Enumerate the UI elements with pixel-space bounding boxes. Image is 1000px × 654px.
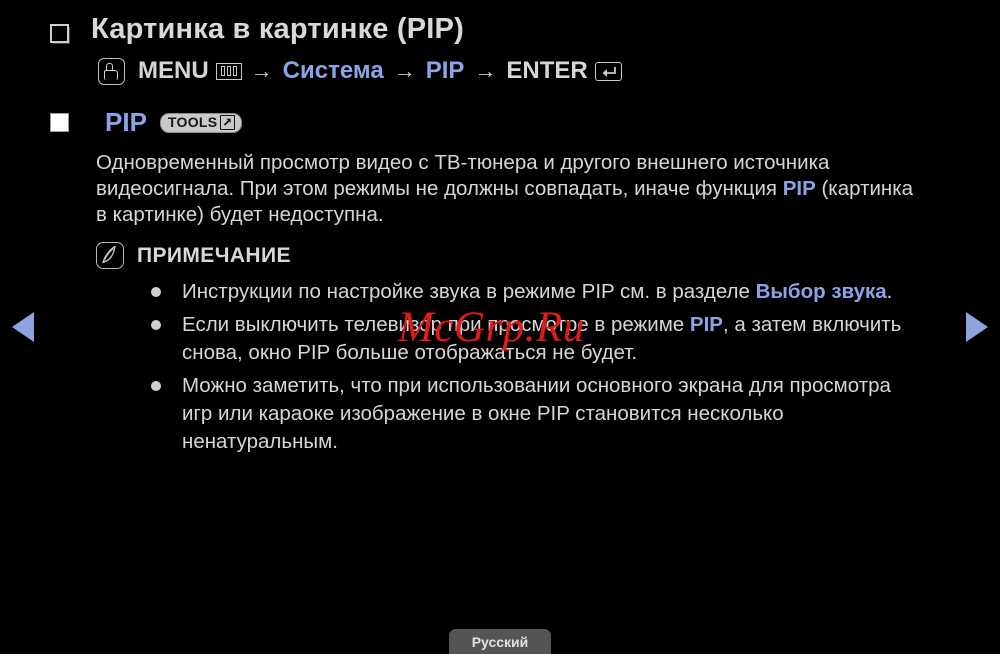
language-tab[interactable]: Русский — [449, 629, 551, 654]
menu-path: MENU → Система → PIP → ENTER — [0, 57, 1000, 85]
pip-heading-label: PIP — [105, 107, 147, 138]
content-column: Картинка в картинке (PIP) MENU → Система… — [0, 0, 1000, 472]
pip-heading-row: PIP TOOLS — [0, 107, 1000, 138]
pip-description-highlight: PIP — [783, 177, 816, 200]
list-item: Инструкции по настройке звука в режиме P… — [0, 278, 1000, 306]
note-bullet-list: Инструкции по настройке звука в режиме P… — [0, 278, 1000, 456]
hollow-square-bullet-icon — [50, 24, 69, 43]
bullet-1-link[interactable]: Выбор звука — [756, 280, 887, 303]
bullet-2-part1: Если выключить телевизор при просмотре в… — [182, 313, 690, 336]
note-quill-icon — [96, 242, 124, 269]
manual-page: Картинка в картинке (PIP) MENU → Система… — [0, 0, 1000, 654]
section-title-row: Картинка в картинке (PIP) — [0, 11, 1000, 47]
tools-arrow-icon — [220, 115, 235, 130]
menu-path-pip-label: PIP — [426, 57, 465, 85]
bullet-1-part2: . — [887, 280, 893, 303]
bullet-2-highlight: PIP — [690, 313, 723, 336]
menu-grid-icon — [216, 63, 242, 80]
round-bullet-icon — [151, 320, 161, 330]
menu-path-arrow-3: → — [474, 58, 496, 84]
round-bullet-icon — [151, 287, 161, 297]
page-title: Картинка в картинке (PIP) — [91, 11, 464, 47]
list-item: Если выключить телевизор при просмотре в… — [0, 311, 1000, 367]
bullet-1-part1: Инструкции по настройке звука в режиме P… — [182, 280, 756, 303]
menu-path-arrow-2: → — [394, 58, 416, 84]
round-bullet-icon — [151, 381, 161, 391]
note-title: ПРИМЕЧАНИЕ — [137, 244, 291, 268]
bullet-3-part1: Можно заметить, что при использовании ос… — [182, 374, 891, 453]
remote-hand-press-icon — [98, 58, 125, 85]
tools-badge-label: TOOLS — [168, 115, 217, 130]
menu-path-enter-label: ENTER — [506, 57, 587, 85]
pip-description: Одновременный просмотр видео с ТВ-тюнера… — [0, 150, 1000, 228]
tools-badge[interactable]: TOOLS — [160, 113, 242, 133]
menu-path-menu-label: MENU — [138, 57, 209, 85]
menu-path-system-label: Система — [283, 57, 384, 85]
menu-path-arrow-1: → — [251, 58, 273, 84]
enter-return-key-icon — [595, 62, 622, 81]
note-header-row: ПРИМЕЧАНИЕ — [0, 242, 1000, 269]
list-item: Можно заметить, что при использовании ос… — [0, 372, 1000, 456]
filled-square-bullet-icon — [50, 113, 69, 132]
pip-description-part1: Одновременный просмотр видео с ТВ-тюнера… — [96, 151, 829, 200]
